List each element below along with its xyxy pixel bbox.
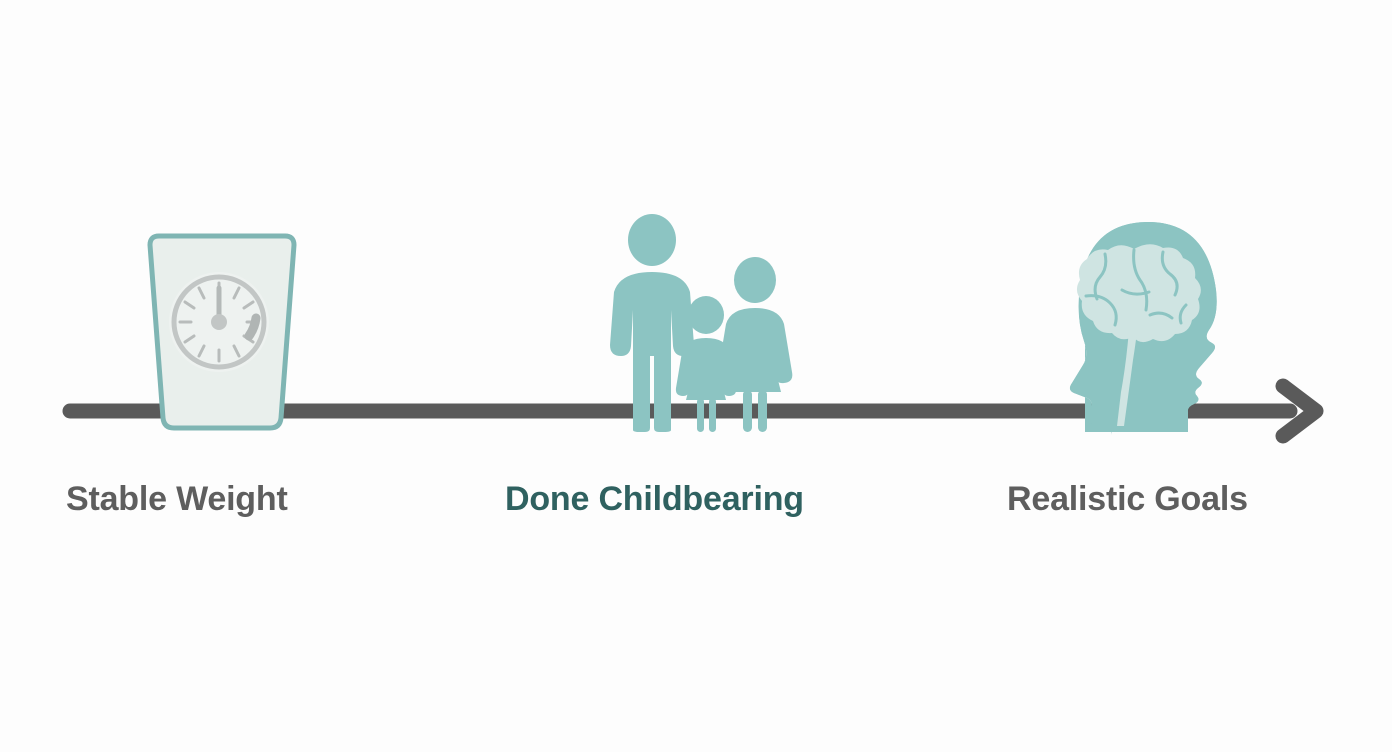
family-figure-adult-male [610,214,694,432]
adult-female-head [734,257,776,303]
milestone-label-realistic-goals: Realistic Goals [1007,482,1248,516]
adult-female-leg-right [758,390,767,432]
adult-male-head [628,214,676,266]
adult-female-body [718,308,793,392]
adult-female-leg-left [743,390,752,432]
infographic-root: Stable Weight Done Childbearing Realisti… [0,0,1392,752]
child-head [688,296,724,334]
head-brain-icon [1070,222,1217,435]
child-leg-right [709,398,716,432]
child-leg-left [697,398,704,432]
bathroom-scale-icon [150,236,294,428]
scale-dial [169,272,269,372]
family-group-icon [610,214,792,432]
milestone-label-stable-weight: Stable Weight [66,482,288,516]
milestone-label-done-childbearing: Done Childbearing [505,482,804,516]
dial-hub [211,314,227,330]
timeline-stage: Stable Weight Done Childbearing Realisti… [0,0,1392,752]
timeline-canvas [0,0,1392,752]
